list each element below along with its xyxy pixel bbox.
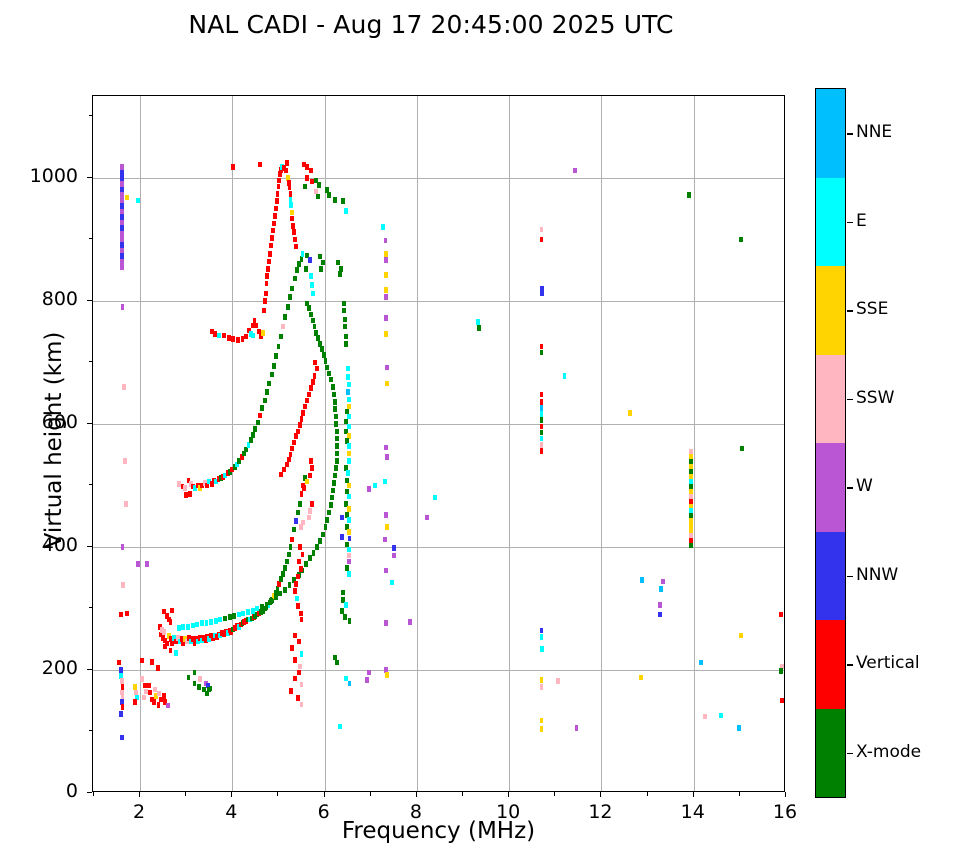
y-tick-mark — [87, 177, 92, 178]
echo-point — [300, 702, 304, 708]
echo-point — [333, 406, 337, 412]
echo-point — [188, 491, 192, 497]
echo-point — [316, 335, 320, 341]
echo-point — [573, 168, 577, 174]
echo-point — [640, 577, 644, 583]
echo-point — [333, 399, 337, 405]
echo-point — [290, 645, 294, 651]
x-tick-minor — [739, 792, 740, 796]
echo-point — [540, 350, 544, 356]
echo-point — [699, 660, 703, 666]
echo-point — [293, 657, 297, 663]
echo-point — [121, 704, 125, 710]
echo-point — [347, 458, 351, 464]
echo-point — [575, 725, 579, 731]
echo-point — [346, 389, 350, 395]
colorbar-label-e: E — [856, 211, 867, 231]
echo-point — [346, 470, 350, 476]
echo-point — [300, 682, 304, 688]
echo-point — [540, 718, 544, 724]
echo-point — [661, 579, 665, 585]
echo-point — [145, 561, 149, 567]
echo-point — [265, 281, 269, 287]
echo-point — [344, 341, 348, 347]
colorbar-segment-sse[interactable] — [816, 266, 845, 355]
echo-point — [384, 238, 388, 244]
echo-point — [739, 633, 743, 639]
echo-point — [241, 336, 245, 342]
echo-point — [347, 397, 351, 403]
echo-point — [162, 629, 166, 635]
echo-point — [346, 374, 350, 380]
echo-point — [344, 602, 348, 608]
echo-point — [297, 639, 301, 645]
echo-point — [347, 517, 351, 523]
echo-point — [274, 595, 278, 601]
echo-point — [373, 483, 377, 489]
echo-point — [540, 291, 544, 297]
echo-point — [385, 672, 389, 678]
echo-point — [347, 443, 351, 449]
echo-point — [347, 382, 351, 388]
echo-point — [121, 544, 125, 550]
echo-point — [687, 192, 691, 198]
echo-point — [152, 699, 156, 705]
echo-point — [258, 413, 262, 419]
echo-point — [197, 684, 201, 690]
echo-point — [274, 353, 278, 359]
y-tick-minor — [89, 238, 93, 239]
echo-point — [254, 323, 258, 329]
colorbar-segment-vertical[interactable] — [816, 620, 845, 709]
echo-point — [122, 384, 126, 390]
echo-point — [277, 344, 281, 350]
x-tick-mark — [416, 792, 417, 797]
colorbar-tick — [847, 133, 853, 134]
y-tick-mark — [87, 546, 92, 547]
echo-point — [301, 552, 305, 558]
echo-point — [295, 596, 299, 602]
echo-point — [236, 337, 240, 343]
echo-point — [309, 458, 313, 464]
echo-point — [231, 164, 235, 170]
echo-point — [255, 606, 259, 612]
echo-point — [327, 510, 331, 516]
echo-point — [305, 479, 309, 485]
colorbar[interactable] — [815, 88, 846, 798]
echo-point — [300, 491, 304, 497]
echo-point — [181, 624, 185, 630]
echo-point — [304, 561, 308, 567]
echo-point — [218, 617, 222, 623]
echo-point — [318, 254, 322, 260]
echo-point — [540, 726, 544, 732]
echo-point — [120, 678, 124, 684]
y-tick-mark — [87, 300, 92, 301]
y-tick-minor — [89, 484, 93, 485]
colorbar-segment-x-mode[interactable] — [816, 709, 845, 798]
echo-point — [296, 510, 300, 516]
echo-point — [340, 534, 344, 540]
echo-point — [347, 529, 351, 535]
echo-point — [340, 608, 344, 614]
echo-point — [348, 618, 352, 624]
colorbar-segment-nne[interactable] — [816, 89, 845, 178]
echo-point — [174, 650, 178, 656]
echo-point — [316, 194, 320, 200]
echo-point — [312, 550, 316, 556]
echo-point — [342, 308, 346, 314]
echo-point — [275, 198, 279, 204]
echo-point — [191, 623, 195, 629]
page-title: NAL CADI - Aug 17 20:45:00 2025 UTC — [0, 10, 862, 39]
echo-point — [147, 683, 151, 689]
echo-point — [308, 555, 312, 561]
echo-point — [310, 465, 314, 471]
echo-point — [296, 603, 300, 609]
echo-point — [286, 304, 290, 310]
echo-point — [300, 651, 304, 657]
echo-point — [327, 371, 331, 377]
echo-point — [739, 237, 743, 243]
echo-point — [348, 536, 352, 542]
colorbar-tick — [847, 664, 853, 665]
y-tick-minor — [89, 115, 93, 116]
echo-point — [310, 501, 314, 507]
echo-point — [279, 334, 283, 340]
echo-point — [289, 191, 293, 197]
echo-point — [343, 317, 347, 323]
echo-point — [315, 366, 319, 372]
colorbar-segment-w[interactable] — [816, 443, 845, 532]
echo-point — [384, 568, 388, 574]
echo-point — [385, 524, 389, 530]
echo-point — [321, 260, 325, 266]
echo-point — [658, 602, 662, 608]
echo-point — [281, 324, 285, 330]
echo-point — [119, 667, 123, 673]
echo-point — [540, 436, 544, 442]
echo-point — [309, 273, 313, 279]
echo-point — [183, 485, 187, 491]
echo-point — [347, 571, 351, 577]
echo-point — [288, 582, 292, 588]
echo-point — [140, 676, 144, 682]
echo-point — [779, 668, 783, 674]
echo-point — [292, 440, 296, 446]
echo-point — [307, 392, 311, 398]
echo-point — [283, 587, 287, 593]
echo-point — [177, 625, 181, 631]
colorbar-tick — [847, 753, 853, 754]
echo-point — [336, 260, 340, 266]
echo-point — [285, 160, 289, 166]
echo-point — [260, 604, 264, 610]
echo-point — [162, 693, 166, 699]
echo-point — [658, 612, 662, 618]
echo-point — [310, 282, 314, 288]
echo-point — [343, 614, 347, 620]
echo-point — [153, 687, 157, 693]
echo-point — [540, 646, 544, 652]
echo-point — [186, 624, 190, 630]
echo-point — [340, 515, 344, 521]
echo-point — [392, 545, 396, 551]
echo-point — [329, 377, 333, 383]
x-tick-mark — [231, 792, 232, 797]
echo-point — [156, 665, 160, 671]
echo-point — [268, 251, 272, 257]
echo-point — [170, 608, 174, 614]
echo-point — [288, 294, 292, 300]
echo-point — [205, 620, 209, 626]
echo-point — [163, 644, 167, 650]
echo-point — [345, 565, 349, 571]
echo-point — [309, 385, 313, 391]
echo-point — [293, 676, 297, 682]
echo-point — [119, 711, 123, 717]
echo-point — [381, 224, 385, 230]
echo-point — [157, 702, 161, 708]
echo-point — [384, 294, 388, 300]
x-tick-minor — [647, 792, 648, 796]
echo-point — [322, 352, 326, 358]
echo-point — [342, 301, 346, 307]
echo-point — [347, 547, 351, 553]
echo-point — [262, 308, 266, 314]
echo-point — [540, 628, 544, 634]
echo-point — [283, 314, 287, 320]
echo-point — [293, 633, 297, 639]
echo-point — [302, 485, 306, 491]
y-tick-mark — [87, 792, 92, 793]
echo-point — [237, 612, 241, 618]
echo-point — [263, 398, 267, 404]
echo-point — [294, 518, 298, 524]
echo-point — [269, 243, 273, 249]
echo-point — [284, 168, 288, 174]
echo-point — [384, 287, 388, 293]
echo-point — [338, 724, 342, 730]
x-tick-minor — [185, 792, 186, 796]
echo-point — [347, 506, 351, 512]
x-tick-minor — [93, 792, 94, 796]
y-tick-minor — [89, 730, 93, 731]
echo-point — [279, 472, 283, 478]
echo-point — [313, 373, 317, 379]
echo-point — [740, 446, 744, 452]
colorbar-segment-ssw[interactable] — [816, 355, 845, 444]
echo-point — [392, 553, 396, 559]
echo-point — [223, 616, 227, 622]
echo-point — [540, 237, 544, 243]
echo-point — [540, 411, 544, 417]
echo-point — [383, 479, 387, 485]
echo-point — [563, 373, 567, 379]
echo-point — [311, 318, 315, 324]
colorbar-segment-e[interactable] — [816, 178, 845, 267]
echo-point — [271, 228, 275, 234]
echo-point — [425, 515, 429, 521]
y-axis-label: Virtual height (km) — [41, 120, 67, 760]
echo-point — [193, 681, 197, 687]
echo-point — [335, 451, 339, 457]
echo-point — [304, 266, 308, 272]
echo-point — [244, 334, 248, 340]
echo-point — [289, 688, 293, 694]
echo-point — [277, 178, 281, 184]
colorbar-label-ssw: SSW — [856, 388, 894, 408]
echo-point — [123, 458, 127, 464]
echo-point — [309, 312, 313, 318]
echo-point — [689, 543, 693, 549]
echo-point — [285, 559, 289, 565]
echo-point — [384, 620, 388, 626]
echo-point — [210, 329, 214, 335]
echo-point — [217, 333, 221, 339]
colorbar-label-x-mode: X-mode — [856, 742, 921, 762]
echo-point — [133, 699, 137, 705]
echo-point — [477, 325, 481, 331]
echo-point — [390, 580, 394, 586]
echo-point — [143, 683, 147, 689]
data-points-layer — [93, 96, 784, 791]
echo-point — [287, 552, 291, 558]
echo-point — [120, 164, 124, 170]
echo-point — [136, 198, 140, 204]
echo-point — [136, 561, 140, 567]
echo-point — [385, 454, 389, 460]
echo-point — [408, 619, 412, 625]
echo-point — [347, 559, 351, 565]
colorbar-label-nnw: NNW — [856, 565, 898, 585]
x-tick-minor — [277, 792, 278, 796]
echo-point — [347, 483, 351, 489]
echo-point — [295, 267, 299, 273]
echo-point — [324, 358, 328, 364]
echo-point — [278, 591, 282, 597]
y-tick-minor — [89, 607, 93, 608]
echo-point — [281, 571, 285, 577]
echo-point — [256, 420, 260, 426]
echo-point — [347, 553, 351, 559]
echo-point — [344, 334, 348, 340]
echo-point — [267, 259, 271, 265]
echo-point — [290, 216, 294, 222]
echo-point — [334, 414, 338, 420]
echo-point — [331, 384, 335, 390]
echo-point — [299, 566, 303, 572]
echo-point — [121, 304, 125, 310]
echo-point — [780, 698, 784, 704]
x-axis-label: Frequency (MHz) — [92, 818, 785, 844]
colorbar-label-sse: SSE — [856, 299, 888, 319]
echo-point — [298, 664, 302, 670]
echo-point — [779, 612, 783, 618]
echo-point — [301, 251, 305, 257]
echo-point — [121, 582, 125, 588]
echo-point — [291, 223, 295, 229]
echo-point — [299, 611, 303, 617]
echo-point — [307, 515, 311, 521]
echo-point — [272, 221, 276, 227]
echo-point — [309, 168, 313, 174]
echo-point — [277, 184, 281, 190]
echo-point — [384, 512, 388, 518]
x-tick-minor — [370, 792, 371, 796]
echo-point — [332, 392, 336, 398]
echo-point — [198, 676, 202, 682]
echo-point — [265, 389, 269, 395]
echo-point — [296, 574, 300, 580]
echo-point — [335, 660, 339, 666]
echo-point — [227, 335, 231, 341]
echo-point — [384, 445, 388, 451]
echo-point — [384, 315, 388, 321]
x-tick-mark — [785, 792, 786, 797]
echo-point — [266, 266, 270, 272]
echo-point — [318, 538, 322, 544]
echo-point — [540, 424, 544, 430]
echo-point — [299, 524, 303, 530]
echo-point — [261, 330, 265, 336]
echo-point — [294, 433, 298, 439]
echo-point — [540, 634, 544, 640]
echo-point — [293, 588, 297, 594]
echo-point — [214, 618, 218, 624]
echo-point — [125, 611, 129, 617]
echo-point — [703, 714, 707, 720]
echo-point — [334, 465, 338, 471]
echo-point — [222, 333, 226, 339]
colorbar-tick — [847, 576, 853, 577]
echo-point — [329, 502, 333, 508]
echo-point — [258, 162, 262, 168]
echo-point — [324, 524, 328, 530]
echo-point — [333, 473, 337, 479]
echo-point — [335, 443, 339, 449]
echo-point — [335, 458, 339, 464]
echo-point — [311, 379, 315, 385]
echo-point — [169, 619, 173, 625]
echo-point — [347, 494, 351, 500]
echo-point — [294, 244, 298, 250]
echo-point — [157, 691, 161, 697]
x-tick-minor — [554, 792, 555, 796]
echo-point — [232, 613, 236, 619]
echo-point — [308, 473, 312, 479]
x-tick-mark — [600, 792, 601, 797]
echo-point — [274, 206, 278, 212]
echo-point — [300, 256, 304, 262]
echo-point — [290, 446, 294, 452]
x-tick-minor — [462, 792, 463, 796]
echo-point — [294, 581, 298, 587]
echo-point — [246, 609, 250, 615]
echo-point — [540, 448, 544, 454]
ionogram-figure: NAL CADI - Aug 17 20:45:00 2025 UTC 2468… — [0, 0, 958, 857]
echo-point — [308, 257, 312, 263]
echo-point — [330, 495, 334, 501]
colorbar-tick — [847, 222, 853, 223]
echo-point — [385, 365, 389, 371]
echo-point — [540, 417, 544, 423]
echo-point — [150, 659, 154, 665]
colorbar-segment-nnw[interactable] — [816, 532, 845, 621]
colorbar-tick — [847, 399, 853, 400]
echo-point — [241, 611, 245, 617]
echo-point — [276, 191, 280, 197]
